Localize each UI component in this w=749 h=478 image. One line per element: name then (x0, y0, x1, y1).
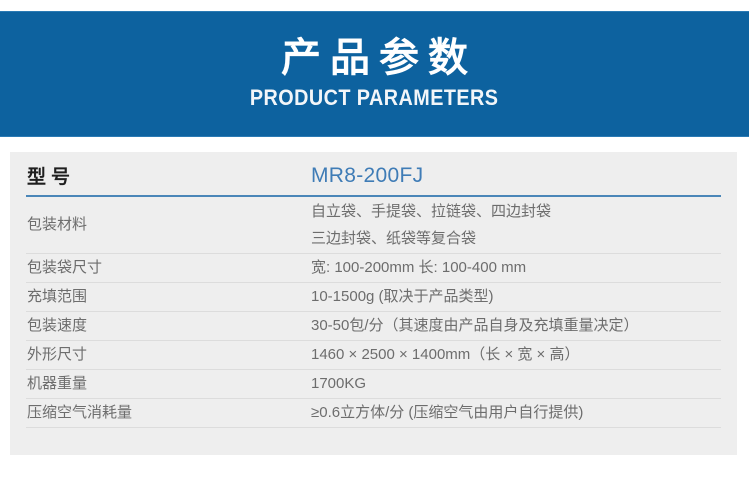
spec-value: 1700KG (311, 373, 721, 395)
spec-value: 10-1500g (取决于产品类型) (311, 286, 721, 308)
spec-value: 1460 × 2500 × 1400mm（长 × 宽 × 高） (311, 344, 721, 366)
spec-value: ≥0.6立方体/分 (压缩空气由用户自行提供) (311, 402, 721, 424)
table-row: 包装速度 30-50包/分（其速度由产品自身及充填重量决定） (26, 312, 721, 341)
spec-label: 外形尺寸 (27, 345, 311, 365)
model-label: 型号 (27, 165, 311, 191)
product-parameters-page: 产品参数 PRODUCT PARAMETERS 型号 MR8-200FJ 包装材… (0, 0, 749, 478)
banner-title-cn: 产品参数 (272, 37, 477, 79)
banner-subtitle-en: PRODUCT PARAMETERS (250, 85, 499, 111)
model-value: MR8-200FJ (311, 161, 721, 191)
spec-label: 包装材料 (27, 215, 311, 235)
spec-label: 包装速度 (27, 316, 311, 336)
table-row: 包装袋尺寸 宽: 100-200mm 长: 100-400 mm (26, 254, 721, 283)
spec-label: 充填范围 (27, 287, 311, 307)
spec-header-row: 型号 MR8-200FJ (26, 152, 721, 197)
spec-table: 型号 MR8-200FJ 包装材料 自立袋、手提袋、拉链袋、四边封袋 三边封袋、… (26, 152, 721, 428)
table-row: 包装材料 自立袋、手提袋、拉链袋、四边封袋 三边封袋、纸袋等复合袋 (26, 197, 721, 254)
table-row: 外形尺寸 1460 × 2500 × 1400mm（长 × 宽 × 高） (26, 341, 721, 370)
spec-value: 30-50包/分（其速度由产品自身及充填重量决定） (311, 315, 721, 337)
spec-value: 宽: 100-200mm 长: 100-400 mm (311, 257, 721, 279)
spec-label: 包装袋尺寸 (27, 258, 311, 278)
spec-panel: 型号 MR8-200FJ 包装材料 自立袋、手提袋、拉链袋、四边封袋 三边封袋、… (10, 152, 737, 455)
table-row: 机器重量 1700KG (26, 370, 721, 399)
spec-value-line: 三边封袋、纸袋等复合袋 (311, 228, 721, 250)
spec-value: 自立袋、手提袋、拉链袋、四边封袋 三边封袋、纸袋等复合袋 (311, 201, 721, 250)
page-banner: 产品参数 PRODUCT PARAMETERS (0, 11, 749, 137)
spec-label: 压缩空气消耗量 (27, 403, 311, 423)
spec-label: 机器重量 (27, 374, 311, 394)
spec-value-line: 自立袋、手提袋、拉链袋、四边封袋 (311, 201, 721, 223)
table-row: 压缩空气消耗量 ≥0.6立方体/分 (压缩空气由用户自行提供) (26, 399, 721, 428)
table-row: 充填范围 10-1500g (取决于产品类型) (26, 283, 721, 312)
